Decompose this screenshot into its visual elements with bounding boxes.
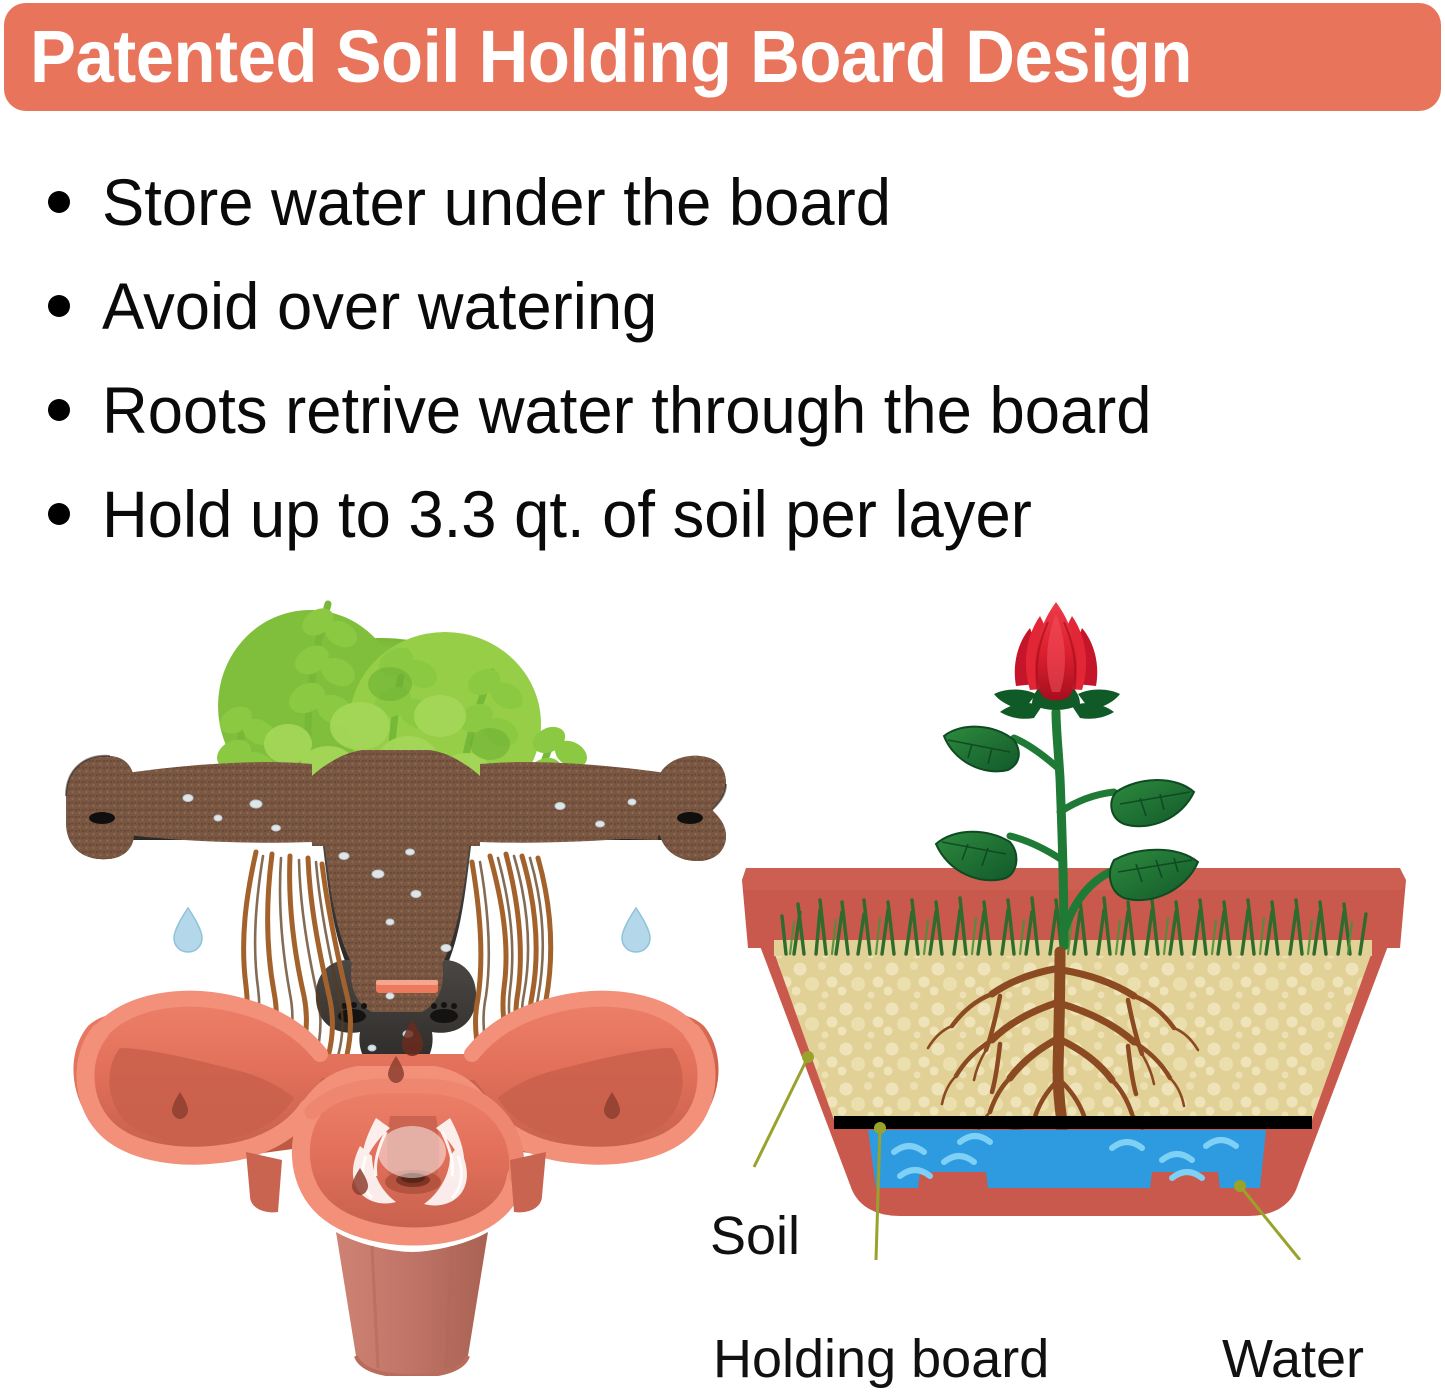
infographic-canvas: Patented Soil Holding Board Design Store…	[0, 0, 1445, 1394]
leader-line-soil	[754, 1057, 808, 1167]
callout-label-water: Water	[1222, 1332, 1364, 1386]
holding-board-line	[834, 1116, 1312, 1129]
list-item: Hold up to 3.3 qt. of soil per layer	[48, 462, 1408, 566]
feature-list: Store water under the board Avoid over w…	[48, 150, 1408, 566]
list-item: Store water under the board	[48, 150, 1408, 254]
bullet-dot-icon	[48, 503, 70, 525]
feature-text: Roots retrive water through the board	[102, 377, 1152, 443]
cross-section-illustration	[700, 560, 1445, 1260]
pot-cross-section-diagram	[700, 560, 1445, 1260]
feature-text: Hold up to 3.3 qt. of soil per layer	[102, 481, 1032, 547]
header-banner: Patented Soil Holding Board Design	[4, 3, 1441, 111]
callout-label-soil: Soil	[710, 1209, 800, 1263]
bullet-dot-icon	[48, 191, 70, 213]
stacking-planter-pot	[73, 999, 718, 1376]
bullet-dot-icon	[48, 295, 70, 317]
callout-label-holding-board: Holding board	[713, 1332, 1049, 1386]
rose-flower-icon	[1015, 602, 1097, 701]
feature-text: Avoid over watering	[102, 273, 657, 339]
bullet-dot-icon	[48, 399, 70, 421]
page-title: Patented Soil Holding Board Design	[4, 20, 1192, 94]
product-photo-stacking-planter	[60, 556, 732, 1376]
list-item: Roots retrive water through the board	[48, 358, 1408, 462]
feature-text: Store water under the board	[102, 169, 891, 235]
planter-illustration	[60, 556, 732, 1376]
list-item: Avoid over watering	[48, 254, 1408, 358]
